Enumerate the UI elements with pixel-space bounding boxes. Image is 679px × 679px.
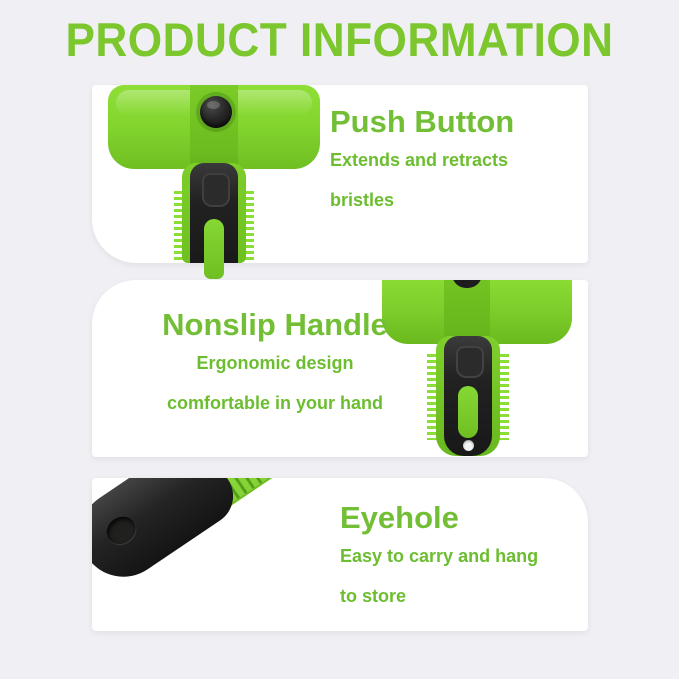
panel-heading-eyehole: Eyehole: [340, 500, 538, 536]
panel-body-line-1: Extends and retracts: [330, 140, 514, 180]
panel-body-line-1: Easy to carry and hang: [340, 536, 538, 576]
handle-upper: [182, 163, 246, 263]
text-block-eyehole: Eyehole Easy to carry and hang to store: [340, 500, 538, 616]
panel-body-line-2: comfortable in your hand: [130, 383, 420, 423]
panel-heading-nonslip-handle: Nonslip Handle: [130, 307, 420, 343]
text-block-nonslip-handle: Nonslip Handle Ergonomic design comforta…: [130, 307, 420, 423]
text-block-push-button: Push Button Extends and retracts bristle…: [330, 104, 514, 220]
panel-body-line-2: bristles: [330, 180, 514, 220]
bristle-row-right: [499, 354, 509, 440]
panel-heading-push-button: Push Button: [330, 104, 514, 140]
handle-thumb-tab: [456, 346, 484, 378]
handle-end-group: [92, 478, 378, 631]
eyehole-icon: [463, 440, 474, 451]
push-button-icon: [200, 96, 232, 128]
panel-body-line-2: to store: [340, 576, 538, 616]
handle-green-inlay: [204, 219, 224, 279]
page-title: PRODUCT INFORMATION: [20, 14, 658, 66]
handle-green-inlay: [458, 386, 478, 438]
panel-body-line-1: Ergonomic design: [130, 343, 420, 383]
handle-thumb-tab: [202, 173, 230, 207]
handle-full: [436, 336, 500, 456]
bristle-row-right: [245, 191, 254, 263]
